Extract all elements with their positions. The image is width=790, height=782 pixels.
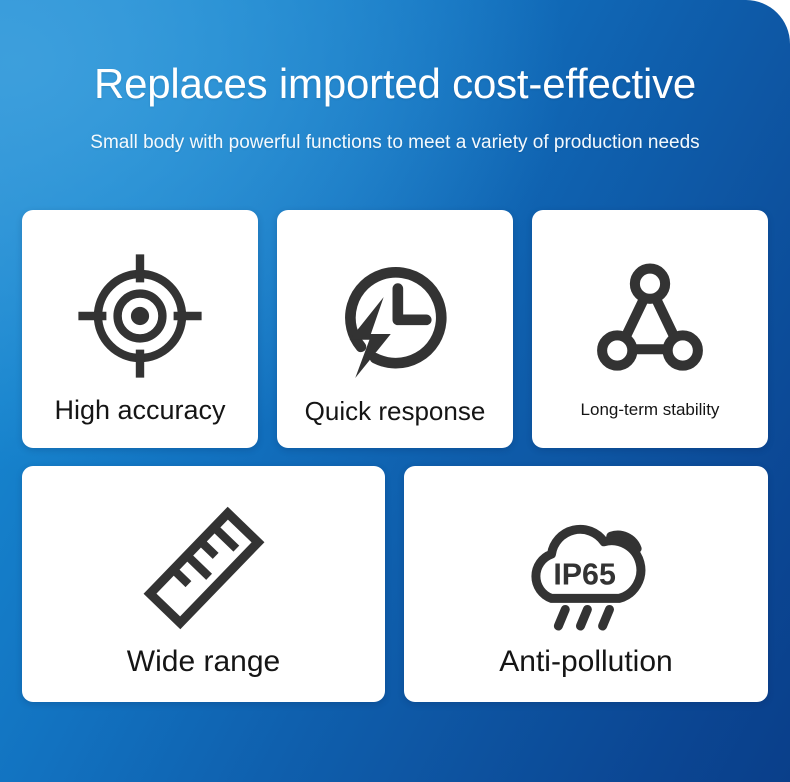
- feature-card-wide-range[interactable]: Wide range: [22, 466, 385, 702]
- page-title: Replaces imported cost-effective: [0, 60, 790, 108]
- feature-card-grid: High accuracy Quick response: [22, 210, 768, 702]
- promo-banner: Replaces imported cost-effective Small b…: [0, 0, 790, 782]
- feature-card-label: Wide range: [22, 645, 385, 702]
- feature-card-label: Long-term stability: [532, 401, 768, 448]
- clock-lightning-icon: [277, 236, 513, 397]
- ip65-text: IP65: [553, 557, 616, 591]
- feature-card-label: Anti-pollution: [404, 645, 768, 702]
- feature-card-high-accuracy[interactable]: High accuracy: [22, 210, 258, 448]
- crosshair-target-icon: [22, 236, 258, 396]
- feature-card-anti-pollution[interactable]: IP65 Anti-pollution: [404, 466, 768, 702]
- triangle-nodes-icon: [532, 236, 768, 401]
- feature-card-long-term-stability[interactable]: Long-term stability: [532, 210, 768, 448]
- feature-row-2: Wide range IP65: [22, 466, 768, 702]
- ruler-icon: [22, 490, 385, 645]
- feature-card-label: Quick response: [277, 397, 513, 448]
- cloud-rain-ip65-icon: IP65: [404, 490, 768, 645]
- banner-header: Replaces imported cost-effective Small b…: [0, 0, 790, 155]
- feature-card-label: High accuracy: [22, 396, 258, 448]
- page-subtitle: Small body with powerful functions to me…: [0, 132, 790, 155]
- feature-row-1: High accuracy Quick response: [22, 210, 768, 448]
- feature-card-quick-response[interactable]: Quick response: [277, 210, 513, 448]
